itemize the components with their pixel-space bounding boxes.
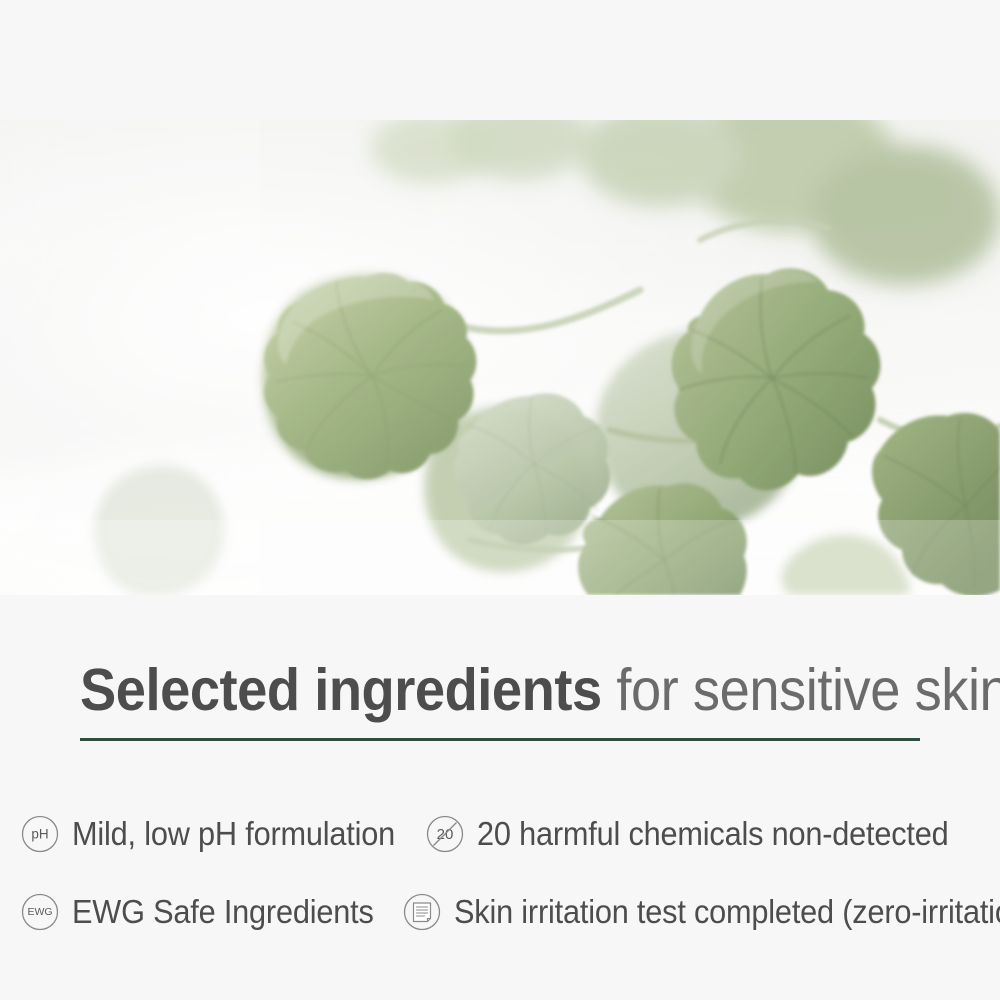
page-title: Selected ingredients for sensitive skin bbox=[80, 655, 871, 725]
ewg-circle-icon: EWG bbox=[20, 892, 60, 932]
feature-item-ewg: EWG EWG Safe Ingredients bbox=[0, 892, 396, 932]
ph-circle-icon: pH bbox=[20, 814, 60, 854]
feature-item-twenty-chemicals: 20 20 harmful chemicals non-detected bbox=[419, 814, 984, 854]
feature-item-skin-irritation-test: Skin irritation test completed (zero-irr… bbox=[396, 892, 1000, 932]
feature-row-1: pH Mild, low pH formulation 20 20 harmfu… bbox=[0, 795, 1000, 873]
section-heading: Selected ingredients for sensitive skin bbox=[80, 655, 940, 725]
test-report-document-icon bbox=[402, 892, 442, 932]
feature-label: Mild, low pH formulation bbox=[72, 814, 395, 854]
page-title-strong: Selected ingredients bbox=[80, 657, 602, 723]
feature-label: 20 harmful chemicals non-detected bbox=[477, 814, 949, 854]
feature-list: pH Mild, low pH formulation 20 20 harmfu… bbox=[0, 795, 1000, 951]
centella-leaves-photo bbox=[0, 120, 1000, 595]
page-title-light: for sensitive skin bbox=[602, 657, 1000, 723]
product-detail-page: Selected ingredients for sensitive skin … bbox=[0, 0, 1000, 1000]
heading-underline-rule bbox=[80, 738, 920, 741]
hero-image-band bbox=[0, 120, 1000, 595]
feature-row-2: EWG EWG Safe Ingredients Skin irrit bbox=[0, 873, 1000, 951]
svg-text:EWG: EWG bbox=[27, 906, 52, 918]
feature-item-ph: pH Mild, low pH formulation bbox=[0, 814, 419, 854]
twenty-prohibited-icon: 20 bbox=[425, 814, 465, 854]
feature-label: Skin irritation test completed (zero-irr… bbox=[454, 892, 1000, 932]
svg-text:pH: pH bbox=[31, 827, 48, 842]
feature-label: EWG Safe Ingredients bbox=[72, 892, 374, 932]
